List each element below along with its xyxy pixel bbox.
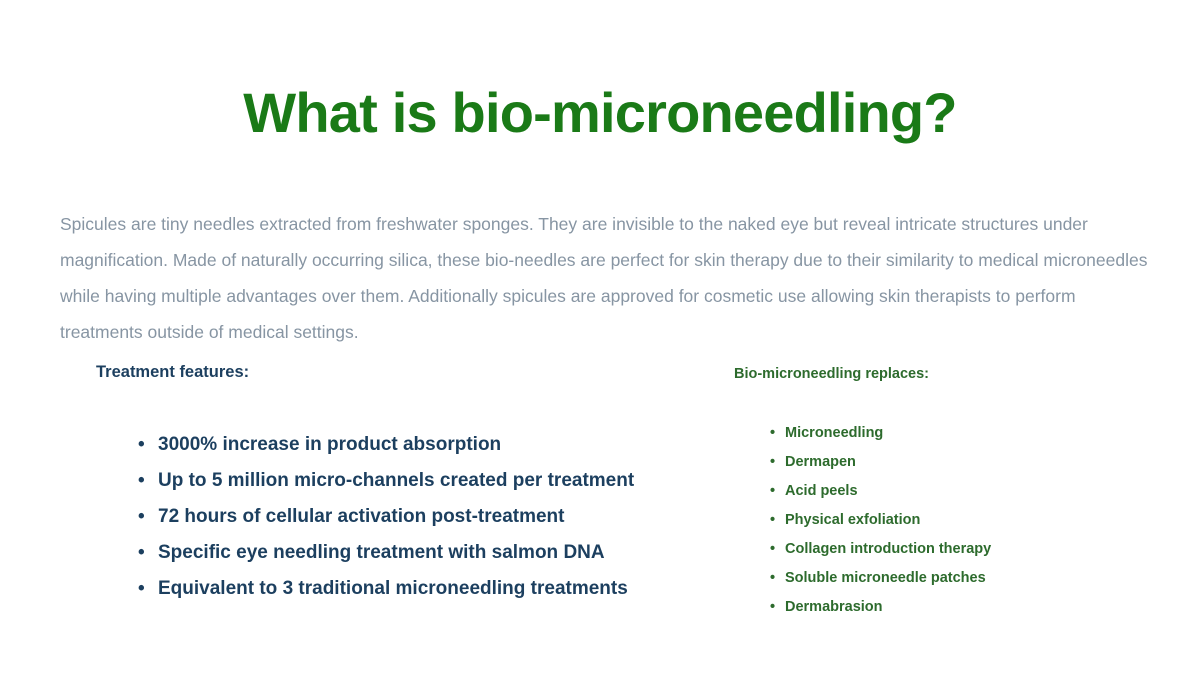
treatment-features-column: Treatment features: 3000% increase in pr… <box>96 362 676 607</box>
list-item: Up to 5 million micro-channels created p… <box>138 463 676 499</box>
list-item: Acid peels <box>770 477 1134 506</box>
treatment-features-list: 3000% increase in product absorption Up … <box>96 427 676 607</box>
list-item: Equivalent to 3 traditional microneedlin… <box>138 571 676 607</box>
list-item: Soluble microneedle patches <box>770 564 1134 593</box>
list-item: Dermabrasion <box>770 593 1134 622</box>
slide-canvas: What is bio-microneedling? Spicules are … <box>0 0 1200 675</box>
replaces-list: Microneedling Dermapen Acid peels Physic… <box>734 419 1134 622</box>
list-item: Collagen introduction therapy <box>770 535 1134 564</box>
treatment-features-heading: Treatment features: <box>96 362 676 383</box>
list-item: Physical exfoliation <box>770 506 1134 535</box>
two-column-section: Treatment features: 3000% increase in pr… <box>0 362 1200 642</box>
list-item: Dermapen <box>770 448 1134 477</box>
list-item: Specific eye needling treatment with sal… <box>138 535 676 571</box>
list-item: 72 hours of cellular activation post-tre… <box>138 499 676 535</box>
replaces-column: Bio-microneedling replaces: Microneedlin… <box>734 365 1134 622</box>
page-title: What is bio-microneedling? <box>0 82 1200 145</box>
list-item: Microneedling <box>770 419 1134 448</box>
replaces-heading: Bio-microneedling replaces: <box>734 365 1134 384</box>
intro-paragraph: Spicules are tiny needles extracted from… <box>60 206 1148 350</box>
list-item: 3000% increase in product absorption <box>138 427 676 463</box>
